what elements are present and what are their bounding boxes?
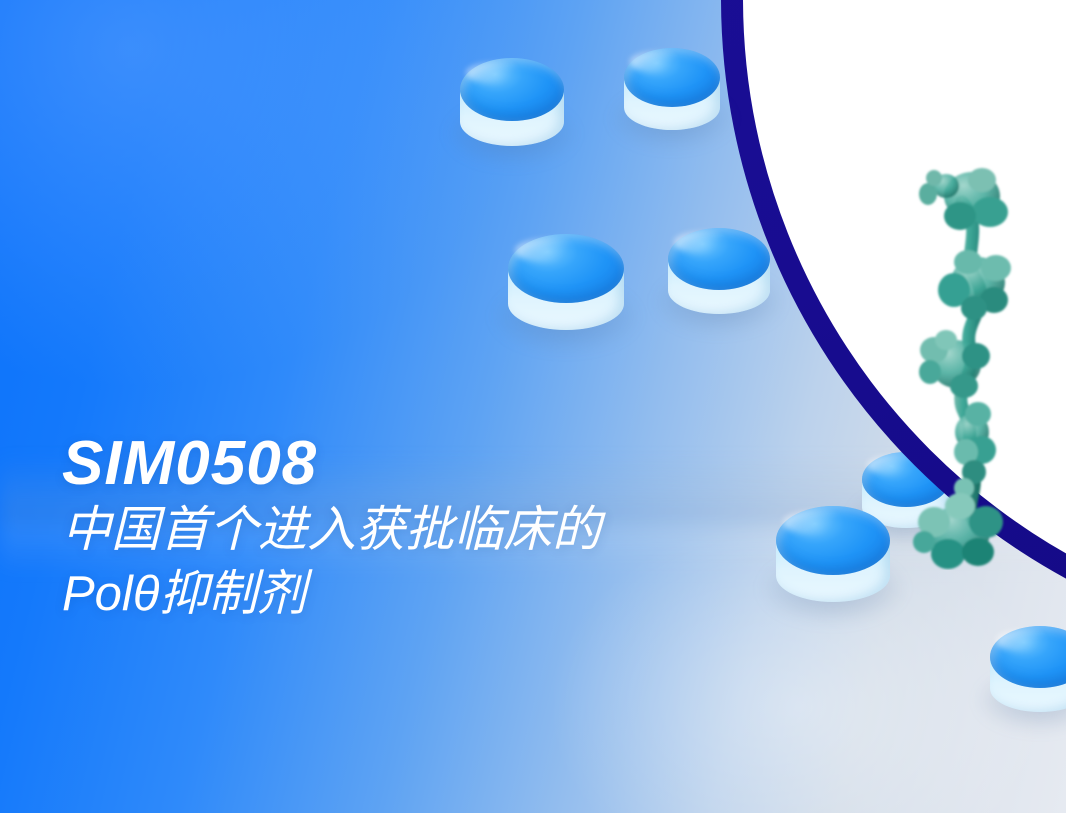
subtitle-line-2: Polθ抑制剂 [62,563,842,627]
tablet-top-left [460,58,564,146]
subtitle-line-1: 中国首个进入获批临床的 [62,499,842,563]
tablet-highlight [996,629,1056,651]
tablet-highlight [630,51,688,72]
poster-canvas: SIM0508 中国首个进入获批临床的 Polθ抑制剂 [0,0,1066,813]
tablet-highlight [466,62,528,85]
headline-block: SIM0508 中国首个进入获批临床的 Polθ抑制剂 [62,432,842,627]
tablet-highlight [674,231,735,253]
tablet-mid-right [668,228,770,314]
page-title: SIM0508 [62,432,842,495]
tablet-mid-left [508,234,624,330]
tablet-top-right [624,48,720,130]
tablet-highlight [515,238,585,263]
tablet-bottom-right [990,626,1066,712]
tablet-highlight [867,455,920,475]
